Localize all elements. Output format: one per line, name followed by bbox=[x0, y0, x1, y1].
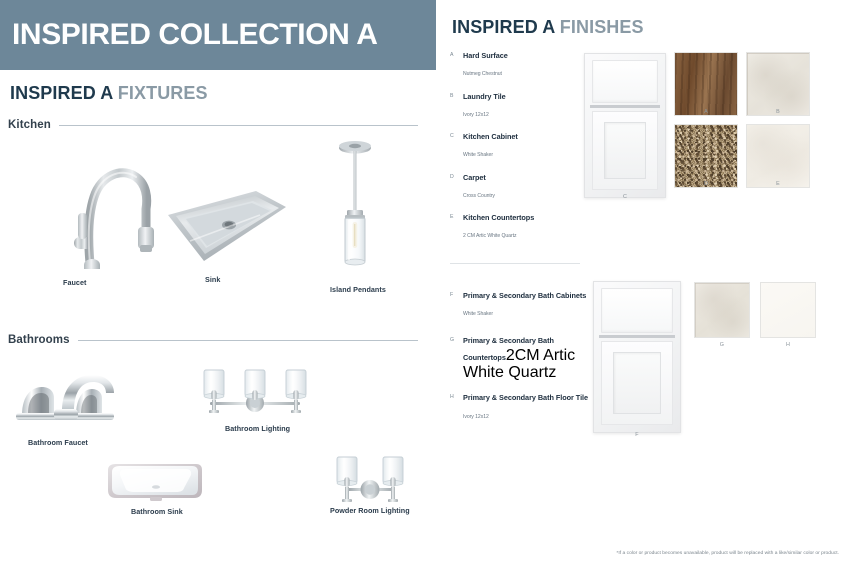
cabinet-door-front bbox=[592, 111, 658, 190]
legend-key: A bbox=[450, 45, 463, 58]
legend-item: G Primary & Secondary Bath Countertops2C… bbox=[450, 330, 600, 382]
swatch-label-e: E bbox=[758, 181, 798, 187]
legend-sub: White Shaker bbox=[463, 152, 493, 158]
legend-sub: Nutmeg Chestnut bbox=[463, 71, 502, 77]
fixtures-heading: INSPIRED A FIXTURES bbox=[10, 83, 208, 104]
swatch-bath-floor-tile bbox=[760, 282, 816, 338]
legend-item: E Kitchen Countertops 2 CM Artic White Q… bbox=[450, 207, 600, 242]
cabinet-drawer-front bbox=[592, 60, 658, 103]
powder-room-light-image bbox=[333, 455, 407, 512]
fixture-label-powder-room-lighting: Powder Room Lighting bbox=[330, 506, 410, 515]
legend-item: C Kitchen Cabinet White Shaker bbox=[450, 126, 600, 161]
island-pendant-image bbox=[325, 138, 385, 283]
section-label-kitchen: Kitchen bbox=[8, 119, 51, 131]
section-rule-kitchen bbox=[59, 125, 418, 126]
legend-name: Hard Surface bbox=[463, 51, 508, 60]
swatch-label-h: H bbox=[768, 342, 808, 348]
legend-key: D bbox=[450, 167, 463, 180]
section-rule-bathrooms bbox=[78, 340, 418, 341]
fixture-label-faucet: Faucet bbox=[63, 278, 86, 287]
cabinet-drawer-front bbox=[601, 288, 673, 333]
section-header-kitchen: Kitchen bbox=[8, 119, 418, 131]
fixtures-heading-light: FIXTURES bbox=[118, 83, 208, 103]
fixture-label-bathroom-faucet: Bathroom Faucet bbox=[28, 438, 88, 447]
swatch-label-b: B bbox=[758, 109, 798, 115]
kitchen-cabinet-door-image bbox=[584, 53, 666, 198]
legend-divider bbox=[450, 263, 580, 264]
finishes-legend-top: A Hard Surface Nutmeg Chestnut B Laundry… bbox=[450, 45, 600, 248]
legend-name: Kitchen Countertops bbox=[463, 213, 534, 222]
swatch-hard-surface bbox=[674, 52, 738, 116]
swatch-label-a: A bbox=[686, 109, 726, 115]
legend-name: Primary & Secondary Bath Floor Tile bbox=[463, 393, 588, 402]
kitchen-faucet-image bbox=[60, 145, 170, 275]
legend-key: B bbox=[450, 86, 463, 99]
swatch-laundry-tile bbox=[746, 52, 810, 116]
legend-key: E bbox=[450, 207, 463, 220]
swatch-carpet bbox=[674, 124, 738, 188]
legend-item: H Primary & Secondary Bath Floor Tile Iv… bbox=[450, 387, 600, 422]
legend-key: H bbox=[450, 387, 463, 400]
section-label-bathrooms: Bathrooms bbox=[8, 334, 70, 346]
swatch-bath-countertop bbox=[694, 282, 750, 338]
bathroom-faucet-image bbox=[10, 365, 125, 428]
cabinet-reveal-gap bbox=[599, 335, 675, 338]
legend-item: D Carpet Cross Country bbox=[450, 167, 600, 202]
section-header-bathrooms: Bathrooms bbox=[8, 334, 418, 346]
legend-name: Laundry Tile bbox=[463, 92, 506, 101]
bath-cabinet-door-image bbox=[593, 281, 681, 433]
legend-sub: Cross Country bbox=[463, 193, 495, 199]
bathroom-sink-image bbox=[100, 450, 210, 513]
legend-key: F bbox=[450, 285, 463, 298]
collection-header-bar: INSPIRED COLLECTION A bbox=[0, 0, 436, 70]
collection-title: INSPIRED COLLECTION A bbox=[0, 18, 378, 52]
fixtures-heading-strong: INSPIRED A bbox=[10, 83, 113, 103]
fixture-label-sink: Sink bbox=[205, 275, 220, 284]
fixture-label-bathroom-lighting: Bathroom Lighting bbox=[225, 424, 290, 433]
legend-item: A Hard Surface Nutmeg Chestnut bbox=[450, 45, 600, 80]
left-panel: INSPIRED COLLECTION A INSPIRED A FIXTURE… bbox=[0, 0, 436, 569]
cabinet-door-panel bbox=[613, 352, 661, 414]
finishes-heading-strong: INSPIRED A bbox=[452, 17, 555, 37]
swatch-label-f: F bbox=[617, 432, 657, 438]
finishes-legend-bottom: F Primary & Secondary Bath Cabinets Whit… bbox=[450, 285, 600, 428]
cabinet-door-panel bbox=[604, 122, 646, 179]
legend-sub: Ivory 12x12 bbox=[463, 414, 489, 420]
legend-name: Carpet bbox=[463, 173, 486, 182]
legend-sub: 2 CM Artic White Quartz bbox=[463, 233, 516, 239]
cabinet-door-front bbox=[601, 341, 673, 425]
legend-key: G bbox=[450, 330, 463, 343]
legend-sub: White Shaker bbox=[463, 311, 493, 317]
availability-footnote: *If a color or product becomes unavailab… bbox=[0, 551, 839, 556]
legend-item: B Laundry Tile Ivory 12x12 bbox=[450, 86, 600, 121]
swatch-label-c: C bbox=[605, 194, 645, 200]
legend-key: C bbox=[450, 126, 463, 139]
fixture-label-bathroom-sink: Bathroom Sink bbox=[131, 507, 183, 516]
finishes-heading: INSPIRED A FINISHES bbox=[452, 17, 644, 38]
legend-name: Kitchen Cabinet bbox=[463, 132, 518, 141]
kitchen-sink-image bbox=[160, 185, 290, 275]
swatch-label-d: D bbox=[686, 181, 726, 187]
legend-name: Primary & Secondary Bath Cabinets bbox=[463, 291, 586, 300]
legend-item: F Primary & Secondary Bath Cabinets Whit… bbox=[450, 285, 600, 320]
swatch-kitchen-countertop bbox=[746, 124, 810, 188]
collection-sheet: INSPIRED COLLECTION A INSPIRED A FIXTURE… bbox=[0, 0, 853, 569]
cabinet-reveal-gap bbox=[590, 105, 660, 108]
bathroom-vanity-light-image bbox=[198, 368, 313, 425]
finishes-heading-light: FINISHES bbox=[560, 17, 644, 37]
swatch-label-g: G bbox=[702, 342, 742, 348]
right-panel: INSPIRED A FINISHES A Hard Surface Nutme… bbox=[436, 0, 853, 569]
legend-sub: Ivory 12x12 bbox=[463, 112, 489, 118]
fixture-label-island-pendants: Island Pendants bbox=[330, 285, 386, 294]
